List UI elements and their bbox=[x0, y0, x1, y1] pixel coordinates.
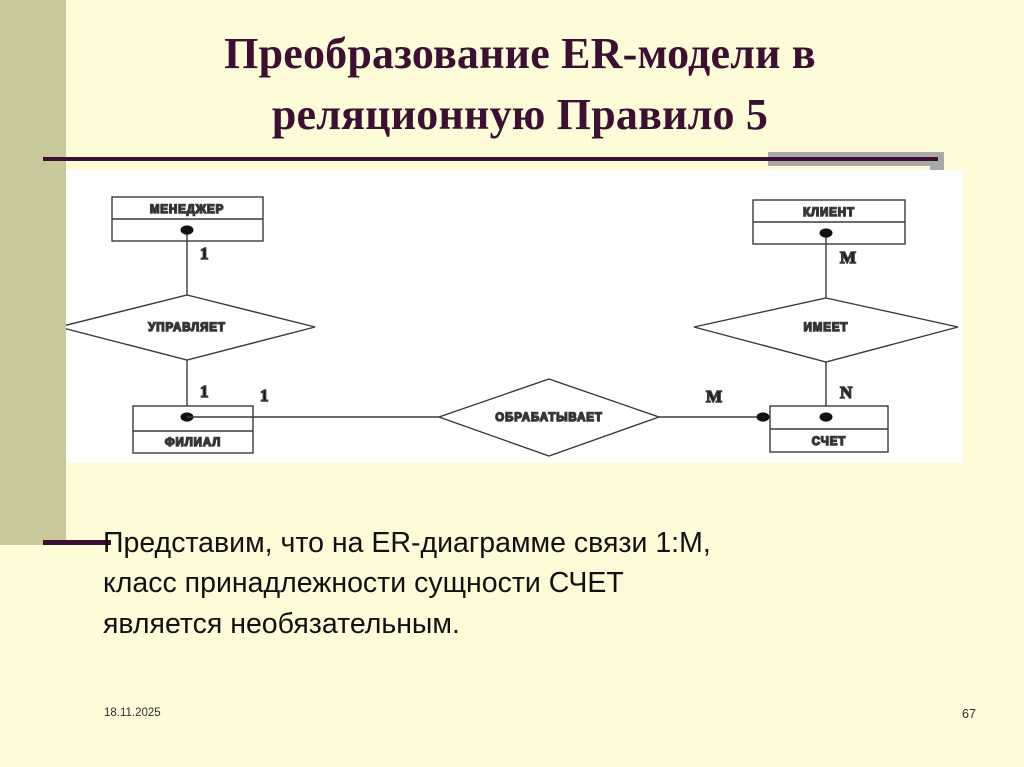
body-line-3: является необязательным. bbox=[103, 604, 903, 644]
entity-client-label: КЛИЕНТ bbox=[803, 207, 855, 219]
cardinality-processes-account: М bbox=[706, 387, 722, 406]
body-line-1: Представим, что на ER-диаграмме связи 1:… bbox=[103, 523, 903, 563]
membership-dot-client bbox=[820, 228, 833, 237]
entity-manager-label: МЕНЕДЖЕР bbox=[150, 204, 224, 216]
cardinality-manager-manages: 1 bbox=[200, 244, 209, 263]
relationship-processes-label: ОБРАБАТЫВАЕТ bbox=[495, 412, 603, 424]
page-title-line-1: Преобразование ER-модели в bbox=[120, 24, 920, 85]
body-paragraph: Представим, что на ER-диаграмме связи 1:… bbox=[103, 523, 903, 644]
left-olive-bar bbox=[0, 0, 66, 545]
body-line-2: класс принадлежности сущности СЧЕТ bbox=[103, 563, 903, 603]
left-accent-rule bbox=[43, 540, 111, 545]
membership-dot-manager bbox=[181, 225, 194, 234]
page-title: Преобразование ER-модели в реляционную П… bbox=[120, 24, 920, 145]
cardinality-manages-branch: 1 bbox=[200, 382, 209, 401]
relationship-has-label: ИМЕЕТ bbox=[804, 322, 849, 334]
title-divider-rule bbox=[43, 157, 938, 161]
membership-dot-account bbox=[820, 412, 833, 421]
cardinality-client-has: М bbox=[840, 248, 856, 267]
cardinality-branch-processes: 1 bbox=[260, 386, 269, 405]
er-diagram-panel: МЕНЕДЖЕР 1 УПРАВЛЯЕТ 1 ФИЛИАЛ 1 ОБР bbox=[66, 170, 963, 463]
membership-dot-account-optional bbox=[757, 412, 770, 421]
relationship-manages-label: УПРАВЛЯЕТ bbox=[148, 322, 226, 334]
entity-account-label: СЧЕТ bbox=[812, 436, 846, 448]
footer-date: 18.11.2025 bbox=[104, 707, 161, 719]
er-diagram-svg: МЕНЕДЖЕР 1 УПРАВЛЯЕТ 1 ФИЛИАЛ 1 ОБР bbox=[66, 170, 963, 463]
footer-page-number: 67 bbox=[962, 707, 976, 721]
page-title-line-2: реляционную Правило 5 bbox=[120, 85, 920, 146]
entity-branch-label: ФИЛИАЛ bbox=[165, 437, 221, 449]
cardinality-has-account: N bbox=[840, 383, 853, 402]
